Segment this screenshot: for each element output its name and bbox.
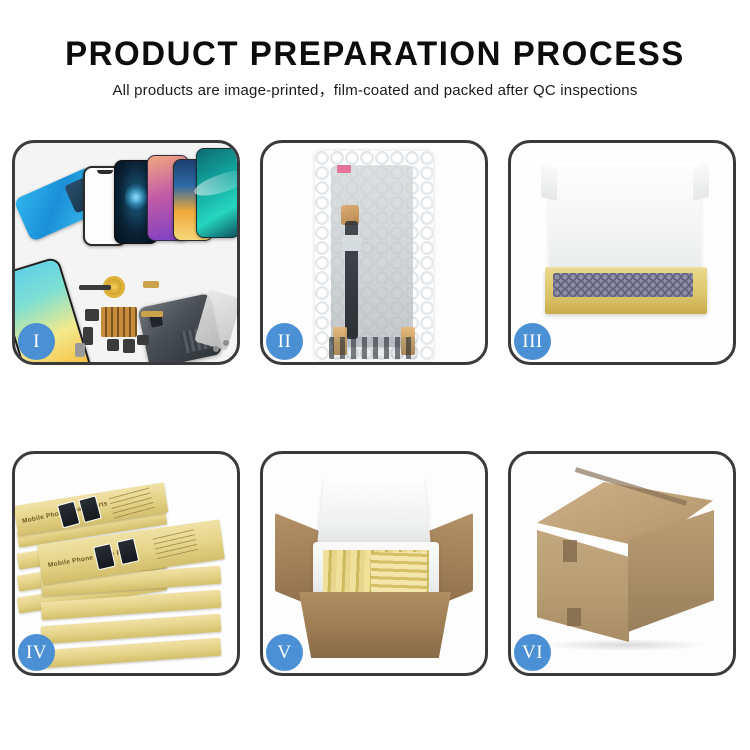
step-badge-6: VI [514, 634, 551, 671]
screen-thumbnail-icon [93, 543, 116, 570]
process-step-5: V [260, 451, 488, 676]
process-step-1: I [12, 140, 240, 365]
small-part-icon [107, 339, 119, 351]
header: PRODUCT PREPARATION PROCESS All products… [0, 34, 750, 101]
white-box-lid-icon [549, 161, 701, 281]
small-part-icon [79, 285, 111, 290]
process-step-grid: I II [12, 140, 738, 676]
product-preparation-infographic: PRODUCT PREPARATION PROCESS All products… [0, 0, 750, 750]
bottom-components-icon [329, 337, 417, 359]
spec-lines-icon [108, 485, 155, 519]
chip-grid-icon [101, 307, 137, 337]
small-part-icon [141, 311, 163, 317]
bubble-wrap-bag-icon [315, 151, 433, 361]
teal-phone-icon [196, 148, 237, 238]
carton-tape-icon [563, 540, 577, 562]
step-badge-4: IV [18, 634, 55, 671]
small-part-icon [85, 309, 99, 321]
screw-icon [223, 340, 229, 346]
page-title: PRODUCT PREPARATION PROCESS [11, 34, 739, 74]
screen-thumbnail-icon [116, 538, 139, 565]
step-badge-2: II [266, 323, 303, 360]
carton-front-face-icon [537, 530, 629, 642]
bubble-foam-fill-icon [553, 273, 693, 297]
small-part-icon [75, 343, 85, 357]
spec-lines-icon [152, 526, 198, 559]
small-part-icon [143, 281, 159, 288]
carton-tape-icon [567, 608, 581, 626]
step-badge-5: V [266, 634, 303, 671]
small-part-icon [83, 327, 93, 345]
small-part-icon [123, 339, 135, 353]
pink-sticker-icon [337, 165, 351, 173]
step-badge-1: I [18, 323, 55, 360]
small-part-icon [137, 335, 149, 345]
wrapped-screen-icon [331, 165, 413, 347]
process-step-2: II [260, 140, 488, 365]
process-step-6: VI [508, 451, 736, 676]
gold-boxes-inside-icon [371, 552, 427, 592]
process-step-4: Mobile Phone Spare Parts Mobile Phone Sp… [12, 451, 240, 676]
screen-thumbnail-icon [57, 501, 81, 529]
kraft-carton-icon [299, 592, 451, 658]
screw-icon [213, 346, 219, 352]
flex-cable-icon [345, 221, 358, 339]
page-subtitle: All products are image-printed，film-coat… [0, 81, 750, 101]
step-badge-3: III [514, 323, 551, 360]
screen-thumbnail-icon [78, 495, 102, 523]
process-step-3: III [508, 140, 736, 365]
foam-box-lid-icon [317, 476, 431, 546]
